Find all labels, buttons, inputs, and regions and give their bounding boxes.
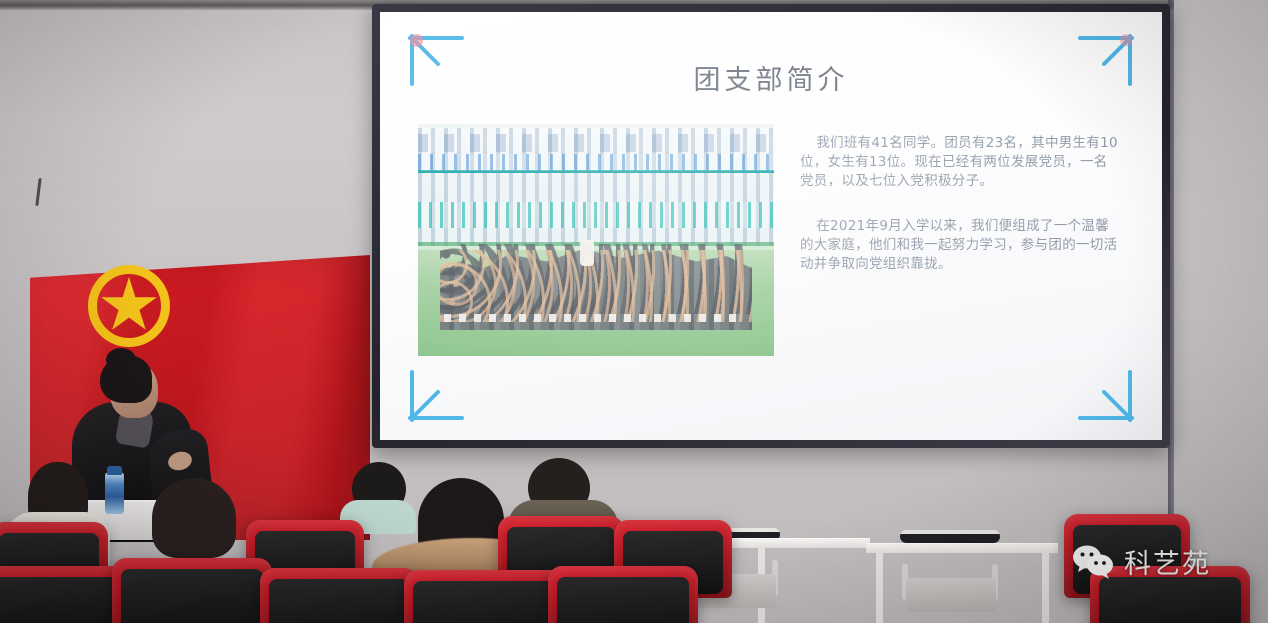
right-wall <box>1174 0 1268 540</box>
screenshot-scene: 团支部简介 我们班有41名同学。团员有2 <box>0 0 1268 623</box>
corner-bracket-bottom-right-icon <box>1076 366 1138 426</box>
seat-cushion <box>557 577 689 623</box>
back-table-2-leg-right <box>1042 553 1049 623</box>
audience-head-2 <box>152 478 236 558</box>
slide-text-column: 我们班有41名同学。团员有23名，其中男生有10位，女生有13位。现在已经有两位… <box>800 134 1120 274</box>
seat-cushion <box>121 569 263 623</box>
seat-row1-5 <box>548 566 698 623</box>
back-table-2-leg-left <box>876 553 883 623</box>
back-chair-2 <box>900 530 1000 543</box>
corner-accent-dot-left <box>410 34 423 47</box>
seat-row1-2 <box>112 558 272 623</box>
photo-railing-lower <box>418 202 774 228</box>
photo-student-faces <box>440 250 752 322</box>
corner-accent-dot-right <box>1120 34 1132 46</box>
wechat-watermark-text: 科艺苑 <box>1124 542 1211 581</box>
photo-floor-line-2 <box>418 171 774 173</box>
seat-row1-3 <box>260 568 418 623</box>
water-bottle <box>105 472 124 514</box>
wechat-icon <box>1072 544 1116 580</box>
slide-title: 团支部简介 <box>380 58 1162 97</box>
photo-window-row <box>418 134 774 152</box>
slide-paragraph-1: 我们班有41名同学。团员有23名，其中男生有10位，女生有13位。现在已经有两位… <box>800 134 1120 191</box>
projection-screen-surface[interactable]: 团支部简介 我们班有41名同学。团员有2 <box>380 12 1162 440</box>
photo-white-coat-person <box>580 240 594 266</box>
seat-cushion <box>269 579 409 623</box>
corner-bracket-bottom-left-icon <box>404 366 466 426</box>
seat-cushion <box>1099 577 1241 623</box>
back-chair-2-seat <box>906 578 996 612</box>
projection-screen-frame: 团支部简介 我们班有41名同学。团员有2 <box>372 4 1170 448</box>
seat-row1-1 <box>0 566 128 623</box>
slide-paragraph-2: 在2021年9月入学以来，我们便组成了一个温馨的大家庭，他们和我一起努力学习，参… <box>800 217 1120 274</box>
presenter-hair-bun <box>106 348 136 372</box>
slide-group-photo <box>418 124 774 356</box>
back-table-2-top <box>866 543 1058 553</box>
wechat-watermark: 科艺苑 <box>1072 542 1211 581</box>
seat-cushion <box>0 577 119 623</box>
water-bottle-cap <box>107 466 122 475</box>
seat-cushion <box>413 581 557 623</box>
seat-row1-4 <box>404 570 566 623</box>
photo-front-row-shoes <box>444 314 744 322</box>
